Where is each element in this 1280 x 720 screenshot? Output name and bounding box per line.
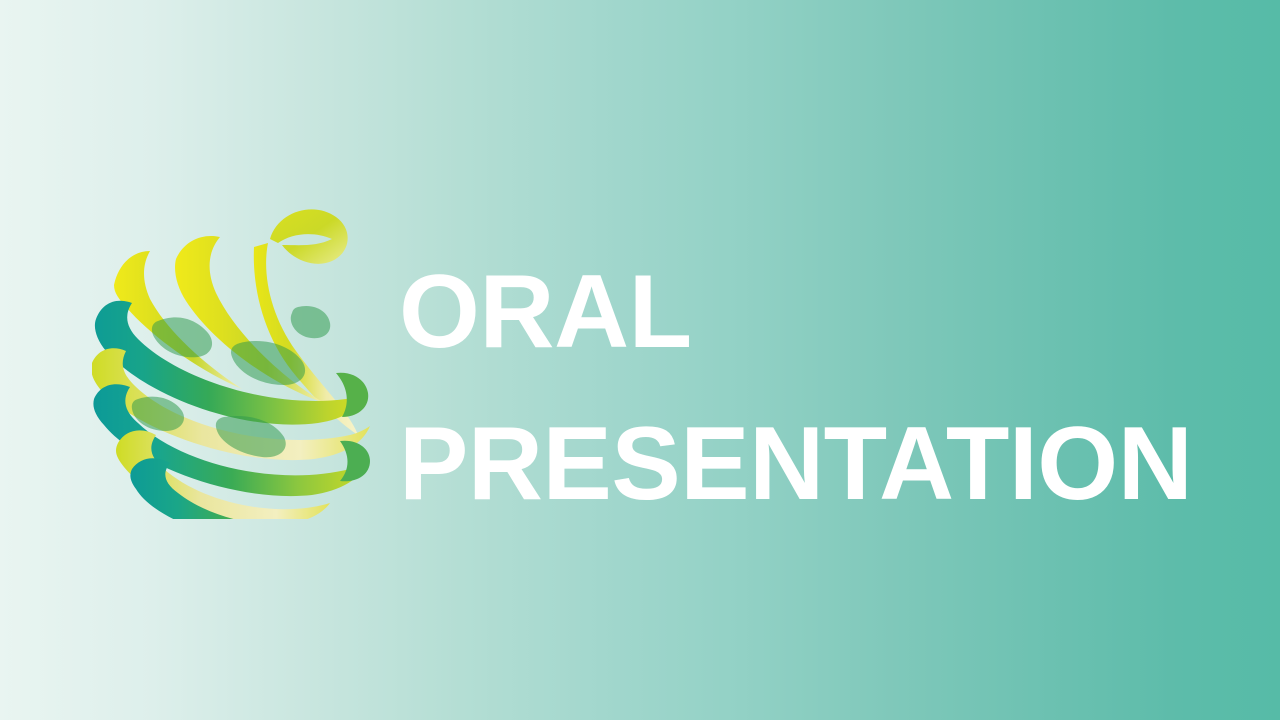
page-title: ORAL PRESENTATION <box>399 236 1229 540</box>
title-line-2: PRESENTATION <box>399 388 1229 540</box>
globe-ribbons <box>92 209 370 519</box>
leaf-curl-shape <box>270 209 348 263</box>
ribbon-wrap-right-2 <box>340 441 370 482</box>
presentation-slide: ORAL PRESENTATION <box>0 0 1280 720</box>
globe-ribbon-logo <box>92 203 384 519</box>
title-line-1: ORAL <box>399 236 1229 388</box>
